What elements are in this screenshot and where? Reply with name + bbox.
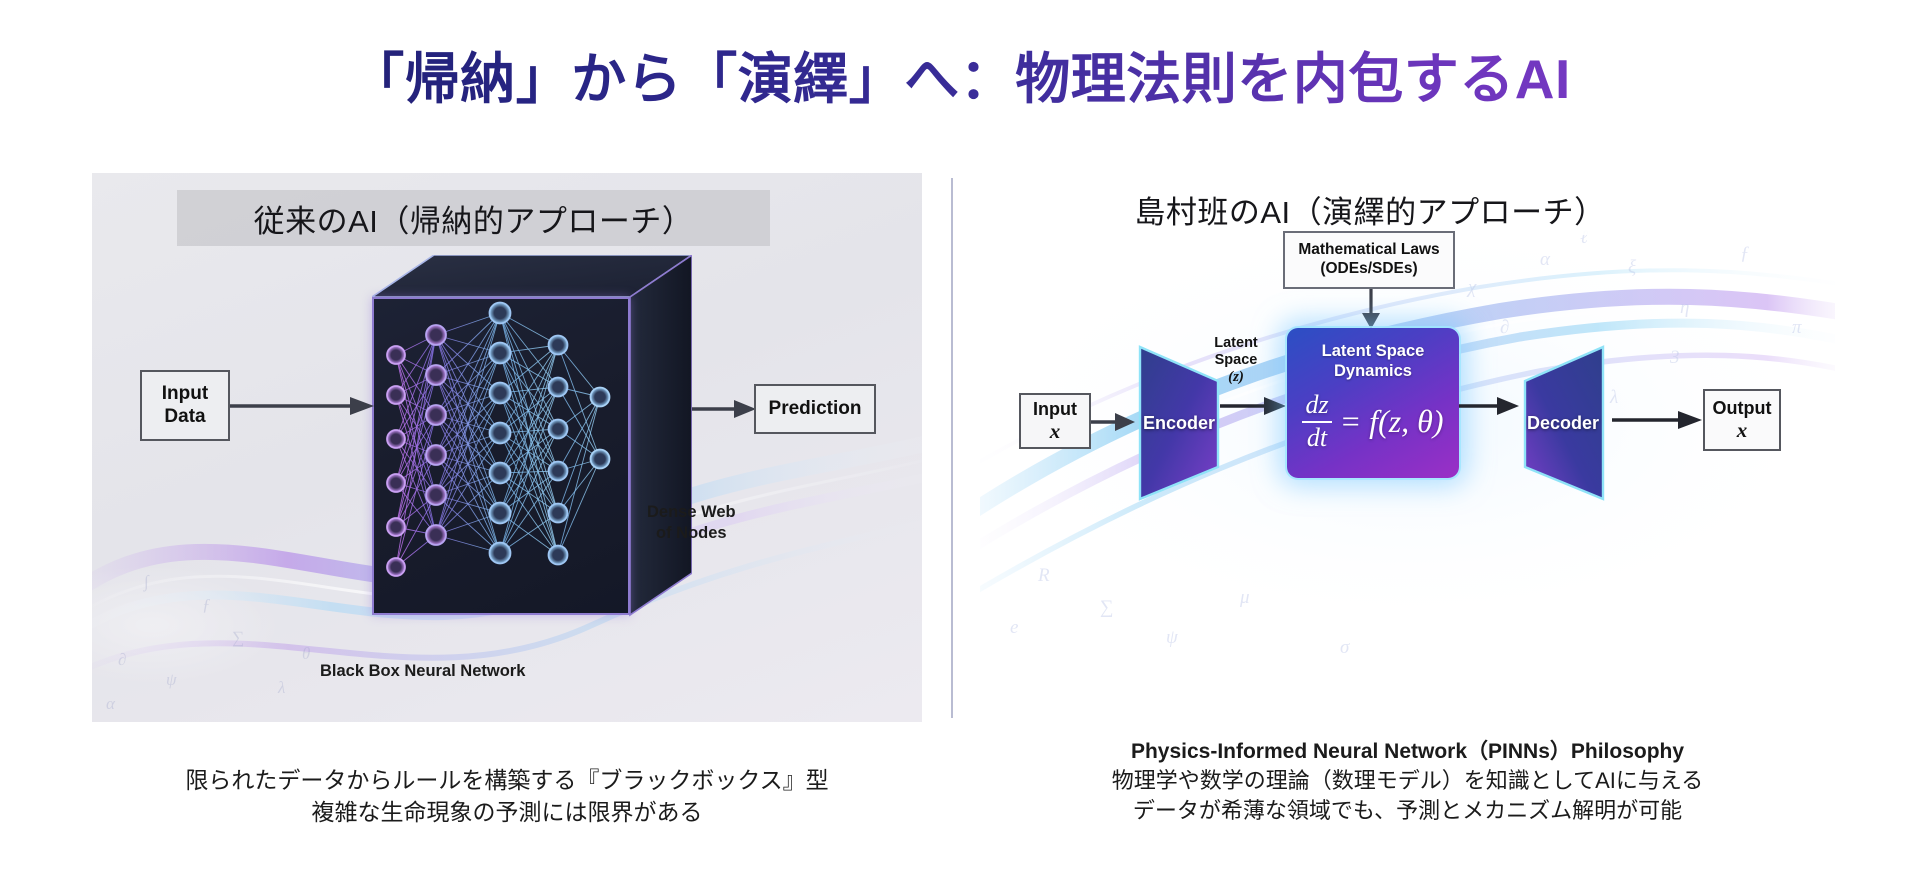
dense-web-line2: of Nodes bbox=[647, 523, 736, 544]
panel-conventional-ai: ∂ψ∑ αλƒ ∫θ 従来のAI（帰納的アプローチ） bbox=[92, 173, 922, 722]
svg-text:e: e bbox=[1010, 617, 1018, 638]
input-x-line1: Input bbox=[1033, 399, 1077, 420]
left-panel-header-label: 従来のAI（帰納的アプローチ） bbox=[254, 196, 694, 241]
left-panel-header: 従来のAI（帰納的アプローチ） bbox=[177, 190, 770, 246]
svg-text:ƒ: ƒ bbox=[1740, 243, 1750, 264]
equation-numerator: dz bbox=[1302, 392, 1331, 419]
math-laws-line2: (ODEs/SDEs) bbox=[1320, 260, 1417, 279]
right-caption-line1: Physics-Informed Neural Network（PINNs）Ph… bbox=[980, 738, 1835, 766]
black-box-front-face bbox=[372, 297, 630, 615]
svg-text:∂: ∂ bbox=[1500, 317, 1509, 338]
svg-text:μ: μ bbox=[1239, 587, 1250, 608]
latent-label-line3: (z) bbox=[1203, 369, 1269, 387]
page-title: 「帰納」から「演繹」へ：物理法則を内包するAI bbox=[0, 34, 1920, 114]
svg-text:ψ: ψ bbox=[1166, 627, 1179, 648]
arrow-encoder-to-latent bbox=[1220, 395, 1288, 417]
latent-space-arrow-label: Latent Space (z) bbox=[1203, 335, 1269, 387]
arrow-math-to-latent bbox=[1360, 289, 1382, 331]
decoder-label: Decoder bbox=[1527, 413, 1599, 434]
left-caption: 限られたデータからルールを構築する『ブラックボックス』型 複雑な生命現象の予測に… bbox=[92, 765, 922, 828]
svg-text:π: π bbox=[1792, 317, 1802, 338]
right-caption-line2: 物理学や数学の理論（数理モデル）を知識としてAIに与える bbox=[980, 766, 1835, 796]
arrow-input-to-blackbox bbox=[230, 395, 376, 417]
prediction-label: Prediction bbox=[769, 398, 862, 420]
left-caption-line2: 複雑な生命現象の予測には限界がある bbox=[92, 797, 922, 829]
output-x-box: Output x bbox=[1703, 389, 1781, 451]
svg-text:∑: ∑ bbox=[232, 628, 244, 647]
svg-text:α: α bbox=[1540, 249, 1551, 270]
right-panel-header: 島村班のAI（演繹的アプローチ） bbox=[1060, 183, 1680, 235]
right-caption-line3: データが希薄な領域でも、予測とメカニズム解明が可能 bbox=[980, 796, 1835, 826]
input-data-line2: Data bbox=[164, 406, 205, 428]
svg-text:ƒ: ƒ bbox=[202, 595, 211, 614]
latent-space-dynamics-box: Latent Space Dynamics dz dt = f(z, θ) bbox=[1287, 328, 1459, 478]
latent-box-title-line1: Latent Space bbox=[1322, 341, 1425, 361]
equation-rhs: = f(z, θ) bbox=[1340, 403, 1444, 440]
left-caption-line1: 限られたデータからルールを構築する『ブラックボックス』型 bbox=[92, 765, 922, 797]
input-x-box: Input x bbox=[1019, 393, 1091, 449]
input-data-line1: Input bbox=[162, 383, 208, 405]
black-box-illustration bbox=[372, 255, 692, 615]
blackbox-annotation: Black Box Neural Network bbox=[320, 661, 525, 682]
panel-divider bbox=[951, 178, 953, 718]
svg-text:∂: ∂ bbox=[118, 650, 126, 669]
panel-pinn-ai: ξℓη 3βα χ∂λ Re∑ ψμσ θƒπ 島村班のAI（演繹的アプローチ）… bbox=[980, 173, 1835, 722]
right-caption: Physics-Informed Neural Network（PINNs）Ph… bbox=[980, 738, 1835, 826]
svg-text:α: α bbox=[106, 694, 116, 713]
svg-text:ψ: ψ bbox=[166, 670, 177, 689]
dense-web-annotation: Dense Web of Nodes bbox=[647, 502, 736, 543]
mathematical-laws-box: Mathematical Laws (ODEs/SDEs) bbox=[1283, 231, 1455, 289]
arrow-blackbox-to-prediction bbox=[692, 398, 758, 420]
svg-text:σ: σ bbox=[1340, 637, 1350, 658]
svg-text:η: η bbox=[1680, 297, 1689, 318]
prediction-box: Prediction bbox=[754, 384, 876, 434]
arrow-latent-to-decoder bbox=[1459, 395, 1521, 417]
latent-dynamics-equation: dz dt = f(z, θ) bbox=[1302, 392, 1443, 451]
svg-text:∫: ∫ bbox=[143, 572, 150, 592]
input-x-line2: x bbox=[1050, 419, 1061, 443]
latent-box-title-line2: Dynamics bbox=[1322, 361, 1425, 381]
equation-denominator: dt bbox=[1304, 425, 1330, 452]
input-data-box: Input Data bbox=[140, 370, 230, 441]
output-x-line2: x bbox=[1737, 418, 1748, 442]
neural-network-graphic bbox=[374, 299, 628, 613]
latent-label-line2: Space bbox=[1203, 352, 1269, 369]
right-panel-header-label: 島村班のAI（演繹的アプローチ） bbox=[1134, 187, 1605, 232]
svg-text:χ: χ bbox=[1466, 277, 1477, 298]
encoder-label: Encoder bbox=[1143, 413, 1215, 434]
svg-text:∑: ∑ bbox=[1100, 597, 1114, 618]
arrow-input-to-encoder bbox=[1091, 411, 1137, 433]
svg-text:λ: λ bbox=[1609, 387, 1618, 408]
svg-text:λ: λ bbox=[277, 678, 285, 697]
latent-label-line1: Latent bbox=[1203, 335, 1269, 352]
dense-web-line1: Dense Web bbox=[647, 502, 736, 523]
arrow-decoder-to-output bbox=[1612, 409, 1704, 431]
output-x-line1: Output bbox=[1713, 398, 1772, 419]
svg-text:θ: θ bbox=[302, 644, 310, 663]
svg-text:ξ: ξ bbox=[1628, 257, 1637, 278]
svg-text:3: 3 bbox=[1669, 347, 1680, 368]
math-laws-line1: Mathematical Laws bbox=[1298, 241, 1439, 260]
svg-text:R: R bbox=[1037, 565, 1050, 586]
